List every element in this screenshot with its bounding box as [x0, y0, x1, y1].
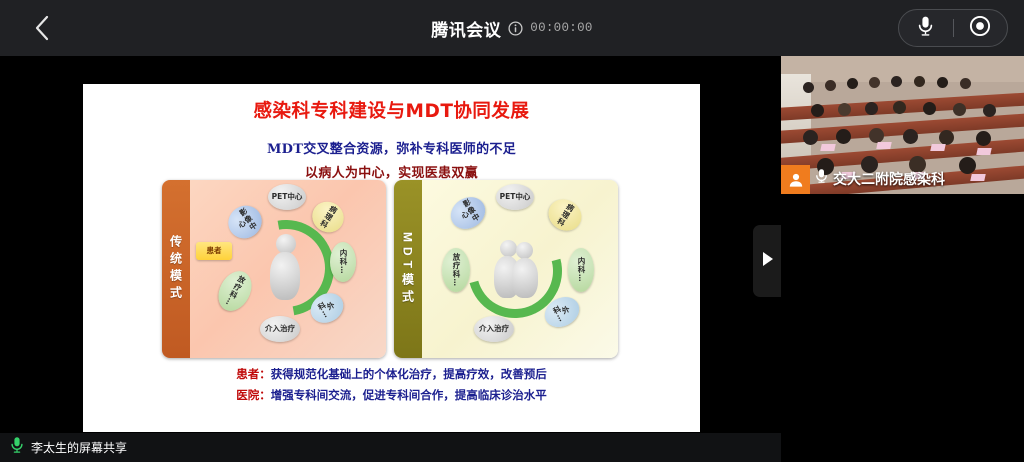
node-imaging-label: 影像中心	[231, 206, 260, 238]
figure-head-a	[500, 240, 517, 257]
node-internal: 内科…	[568, 248, 594, 292]
participant-name-3: 交大二附院感染科	[833, 169, 945, 189]
shared-screen-area[interactable]: 感染科专科建设与MDT协同发展 MDT交叉整合资源，弥补专科医师的不足 以病人为…	[0, 56, 781, 433]
figure-body	[270, 252, 300, 300]
node-internal-label: 内科…	[339, 249, 347, 275]
node-intervention: 介入治疗	[260, 316, 300, 342]
bottom-line-hospital-key: 医院：	[236, 388, 271, 402]
slide-title: 感染科专科建设与MDT协同发展	[83, 97, 700, 123]
node-internal-label: 内科…	[577, 257, 585, 283]
play-triangle-right-icon	[761, 251, 774, 272]
record-button[interactable]	[954, 10, 1008, 46]
share-status-bar: 李太生的屏幕共享	[0, 433, 781, 462]
node-imaging: 影像中心	[445, 191, 491, 236]
node-pet-label: PET中心	[500, 193, 531, 201]
node-pet-label: PET中心	[272, 193, 303, 201]
diagram-row: 传统模式 患者 影像中心 PET中心	[162, 180, 619, 358]
node-pet: PET中心	[496, 184, 534, 210]
diagram-right-band-label: MDT模式	[400, 232, 417, 307]
participant-rail: Pq 小程序用户/svrL+Pq	[781, 56, 1024, 462]
bottom-line-patient-value: 获得规范化基础上的个体化治疗，提高疗效，改善预后	[271, 367, 547, 381]
info-circle-icon[interactable]	[508, 21, 523, 36]
node-pathology-label: 病理科	[318, 204, 338, 230]
node-intervention: 介入治疗	[474, 316, 514, 342]
figure-body-b	[512, 258, 538, 298]
node-radiotherapy-label: 放疗科…	[224, 274, 247, 308]
node-radiotherapy-label: 放疗科…	[452, 253, 460, 287]
node-patient-label: 患者	[207, 247, 222, 255]
figure-head	[276, 234, 296, 254]
chevron-left-icon	[34, 15, 50, 41]
diagram-left-band: 传统模式	[162, 180, 190, 358]
node-intervention-label: 介入治疗	[265, 325, 295, 333]
share-status-text: 李太生的屏幕共享	[31, 439, 127, 456]
meeting-window: 腾讯会议 00:00:00	[0, 0, 1024, 462]
node-pathology-label: 病理科	[555, 202, 575, 228]
node-surgery-label: 外科…	[314, 294, 340, 323]
back-button[interactable]	[28, 14, 56, 42]
meeting-title: 腾讯会议	[431, 16, 501, 41]
diagram-right-canvas: 影像中心 PET中心 病理科 内科… 外科…	[422, 180, 618, 358]
record-camera-icon	[969, 15, 991, 42]
person-avatar-icon	[781, 165, 810, 194]
figure-head-b	[516, 242, 533, 259]
title-group: 腾讯会议 00:00:00	[0, 0, 1024, 56]
node-pet: PET中心	[268, 184, 306, 210]
bottom-line-hospital: 医院：增强专科间交流，促进专科间合作，提高临床诊治水平	[83, 387, 700, 403]
node-patient: 患者	[196, 242, 232, 260]
node-surgery-label: 外科…	[549, 298, 574, 327]
diagram-right-band: MDT模式	[394, 180, 422, 358]
diagram-left-band-label: 传统模式	[168, 235, 185, 303]
microphone-icon	[815, 168, 828, 189]
presentation-slide: 感染科专科建设与MDT协同发展 MDT交叉整合资源，弥补专科医师的不足 以病人为…	[83, 84, 700, 432]
media-controls	[898, 9, 1008, 47]
diagram-left-canvas: 患者 影像中心 PET中心 病理科 内科…	[190, 180, 386, 358]
microphone-icon	[917, 15, 934, 42]
mic-button[interactable]	[899, 10, 953, 46]
meeting-timer: 00:00:00	[530, 21, 592, 35]
microphone-green-icon	[10, 436, 24, 459]
bottom-line-patient: 患者：获得规范化基础上的个体化治疗，提高疗效，改善预后	[83, 366, 700, 382]
bottom-line-patient-key: 患者：	[236, 367, 271, 381]
node-intervention-label: 介入治疗	[479, 325, 509, 333]
participant-label-3: 交大二附院感染科	[815, 168, 945, 189]
slide-bottom-text: 患者：获得规范化基础上的个体化治疗，提高疗效，改善预后 医院：增强专科间交流，促…	[83, 366, 700, 408]
slide-subtitle-2: 以病人为中心，实现医患双赢	[83, 162, 700, 181]
node-internal: 内科…	[330, 242, 356, 282]
diagram-mdt-model: MDT模式 影像中心 PET中心	[394, 180, 618, 358]
node-imaging-label: 影像中心	[454, 198, 481, 228]
diagram-traditional-model: 传统模式 患者 影像中心 PET中心	[162, 180, 386, 358]
slide-subtitle-1: MDT交叉整合资源，弥补专科医师的不足	[83, 138, 700, 157]
bottom-line-hospital-value: 增强专科间交流，促进专科间合作，提高临床诊治水平	[271, 388, 547, 402]
top-bar: 腾讯会议 00:00:00	[0, 0, 1024, 56]
node-radiotherapy: 放疗科…	[442, 248, 470, 292]
node-pathology: 病理科	[543, 193, 588, 236]
participant-tile-3[interactable]: 交大二附院感染科	[781, 56, 1024, 194]
collapse-panel-toggle[interactable]	[753, 225, 781, 297]
